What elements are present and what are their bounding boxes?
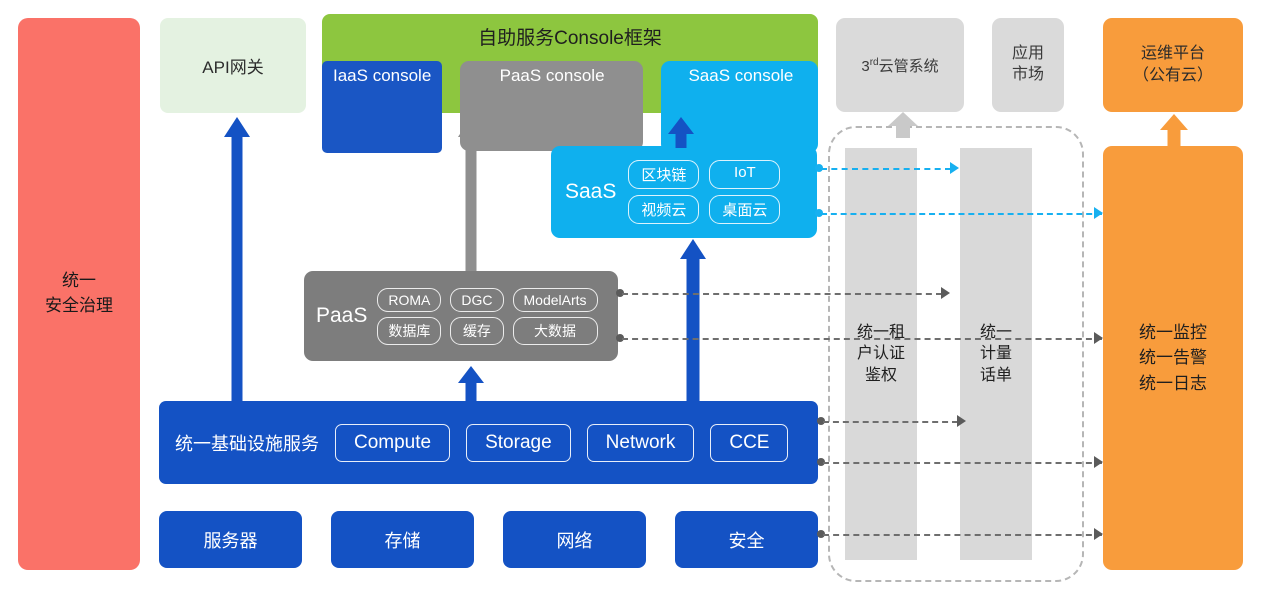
saas-service-desktop-cloud[interactable]: 桌面云	[709, 195, 780, 224]
unified-metering-line3: 话单	[980, 365, 1012, 387]
hardware-security-box[interactable]: 安全	[675, 511, 818, 568]
ops-platform-public-cloud-box: 运维平台 （公有云）	[1103, 18, 1243, 112]
security-governance-line1: 统一	[45, 269, 113, 294]
paas-layer-label: PaaS	[316, 304, 367, 328]
ops-platform-line1: 运维平台	[1133, 43, 1213, 65]
console-chip-row: IaaS console PaaS console SaaS console	[322, 61, 818, 153]
arrowhead-infra-to-auth	[957, 415, 966, 427]
hardware-security-label: 安全	[729, 527, 765, 553]
arrow-shared-to-third-cloud	[888, 112, 918, 138]
paas-service-grid: ROMA DGC ModelArts 数据库 缓存 大数据	[377, 288, 597, 345]
unified-log-label: 统一日志	[1139, 371, 1207, 397]
paas-service-bigdata[interactable]: 大数据	[513, 317, 598, 345]
dashed-line-saas-to-ops	[821, 213, 1102, 215]
unified-infrastructure-label: 统一基础设施服务	[175, 430, 319, 456]
infra-service-cce[interactable]: CCE	[710, 424, 788, 462]
infra-service-network[interactable]: Network	[587, 424, 695, 462]
unified-alarm-label: 统一告警	[1139, 345, 1207, 371]
hardware-server-box[interactable]: 服务器	[159, 511, 302, 568]
saas-service-blockchain[interactable]: 区块链	[628, 160, 699, 189]
dashed-line-saas-to-auth	[821, 168, 951, 170]
hardware-storage-box[interactable]: 存储	[331, 511, 474, 568]
infra-service-storage[interactable]: Storage	[466, 424, 571, 462]
paas-service-roma[interactable]: ROMA	[377, 288, 441, 312]
saas-service-grid: 区块链 IoT 视频云 桌面云	[628, 160, 780, 224]
dashed-line-hardware-to-ops	[823, 534, 1102, 536]
ops-platform-line2: （公有云）	[1133, 65, 1213, 87]
chip-iaas-console[interactable]: IaaS console	[322, 61, 442, 153]
app-market-line1: 应用	[1012, 44, 1044, 65]
unified-ops-column: 统一监控 统一告警 统一日志	[1103, 146, 1243, 570]
arrow-infra-to-paas	[458, 366, 484, 401]
arrow-saas-to-console	[668, 117, 694, 148]
saas-service-video-cloud[interactable]: 视频云	[628, 195, 699, 224]
unified-tenant-auth-column: 统一租 户认证 鉴权	[845, 148, 917, 560]
arrow-infra-to-saas	[679, 239, 707, 401]
arrowhead-paas-to-ops	[1094, 332, 1103, 344]
saas-service-iot[interactable]: IoT	[709, 160, 780, 189]
unified-metering-line2: 计量	[980, 343, 1012, 365]
dashed-line-paas-to-auth	[622, 293, 942, 295]
paas-service-dgc[interactable]: DGC	[450, 288, 503, 312]
unified-infrastructure-box: 统一基础设施服务 Compute Storage Network CCE	[159, 401, 818, 484]
hardware-server-label: 服务器	[204, 527, 258, 553]
console-framework-title: 自助服务Console框架	[478, 23, 662, 50]
app-market-line2: 市场	[1012, 65, 1044, 86]
paas-service-database[interactable]: 数据库	[377, 317, 441, 345]
arrow-paas-to-console	[458, 117, 484, 271]
unified-tenant-auth-line2: 户认证	[857, 343, 905, 365]
console-framework-box: 自助服务Console框架 IaaS console PaaS console …	[322, 14, 818, 113]
paas-service-cache[interactable]: 缓存	[450, 317, 503, 345]
architecture-diagram: 统一 安全治理 API网关 自助服务Console框架 IaaS console…	[0, 0, 1265, 605]
paas-service-modelarts[interactable]: ModelArts	[513, 288, 598, 312]
dashed-line-infra-to-auth	[823, 421, 958, 423]
saas-layer-label: SaaS	[565, 180, 616, 204]
unified-monitoring-label: 统一监控	[1139, 320, 1207, 346]
third-party-cloud-mgmt-label: 3rd云管系统	[861, 55, 938, 76]
arrowhead-saas-to-auth	[950, 162, 959, 174]
unified-metering-billing-column: 统一 计量 话单	[960, 148, 1032, 560]
arrowhead-paas-to-auth	[941, 287, 950, 299]
arrowhead-infra-to-ops	[1094, 456, 1103, 468]
app-market-box: 应用 市场	[992, 18, 1064, 112]
api-gateway-label: API网关	[202, 53, 263, 78]
security-governance-line2: 安全治理	[45, 294, 113, 319]
dashed-line-paas-to-ops	[622, 338, 1102, 340]
hardware-network-box[interactable]: 网络	[503, 511, 646, 568]
arrow-ops-body-to-ops-top	[1160, 114, 1188, 146]
arrow-infra-to-api-gateway	[224, 117, 250, 401]
infra-service-compute[interactable]: Compute	[335, 424, 450, 462]
saas-layer-box: SaaS 区块链 IoT 视频云 桌面云	[551, 146, 817, 238]
hardware-network-label: 网络	[557, 527, 593, 553]
chip-paas-console[interactable]: PaaS console	[460, 61, 643, 151]
arrowhead-saas-to-ops	[1094, 207, 1103, 219]
arrowhead-hardware-to-ops	[1094, 528, 1103, 540]
paas-layer-box: PaaS ROMA DGC ModelArts 数据库 缓存 大数据	[304, 271, 618, 361]
api-gateway-box: API网关	[160, 18, 306, 113]
hardware-storage-label: 存储	[385, 527, 421, 553]
dashed-line-infra-to-ops	[823, 462, 1102, 464]
unified-tenant-auth-line3: 鉴权	[857, 365, 905, 387]
security-governance-column: 统一 安全治理	[18, 18, 140, 570]
third-party-cloud-mgmt-box: 3rd云管系统	[836, 18, 964, 112]
